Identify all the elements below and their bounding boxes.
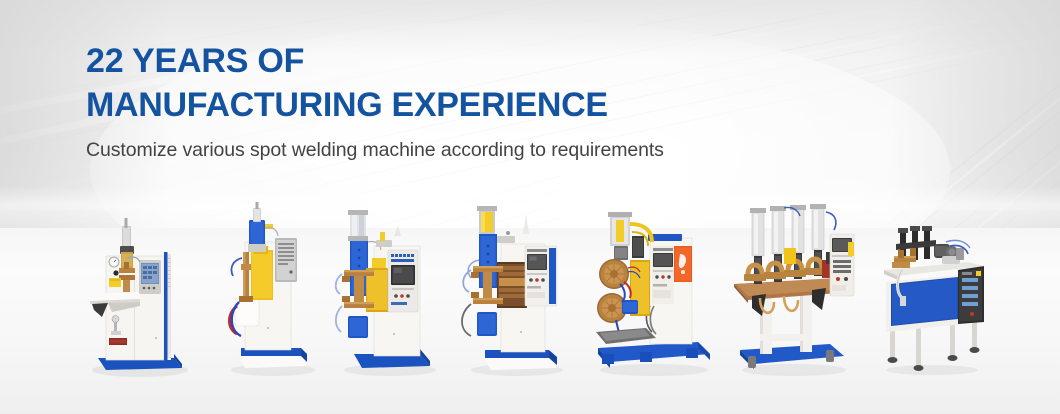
product-image-machine-3[interactable] [328, 206, 446, 378]
product-lineup [0, 0, 1060, 414]
product-image-machine-2[interactable] [215, 202, 325, 378]
hero-banner: 22 YEARS OF MANUFACTURING EXPERIENCE Cus… [0, 0, 1060, 414]
product-image-machine-7[interactable] [872, 226, 990, 376]
product-image-machine-4[interactable] [453, 200, 573, 378]
product-image-machine-5[interactable] [588, 202, 720, 378]
product-image-machine-1[interactable] [78, 218, 193, 378]
product-image-machine-6[interactable] [726, 204, 862, 378]
